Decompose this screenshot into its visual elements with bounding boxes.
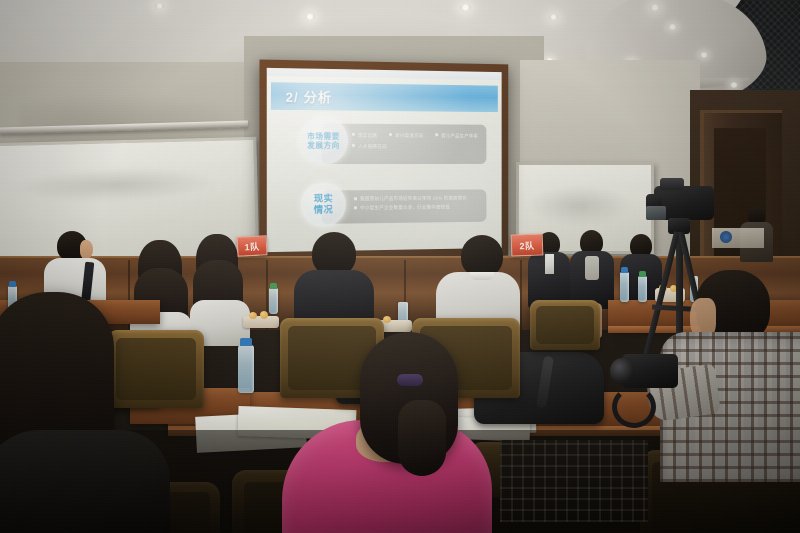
- downlight-icon: [730, 82, 738, 88]
- bullet-dot-icon: [354, 206, 357, 209]
- slide-badge-label: 市场需要 发展方向: [307, 132, 340, 150]
- slide-bullet: 新兴渠道方向: [389, 133, 423, 139]
- slide-bullet: 现实出路: [352, 133, 377, 139]
- water-bottle: [620, 272, 629, 302]
- downlight-icon: [460, 4, 471, 11]
- placard-label: 1队: [244, 239, 260, 253]
- chair: [530, 300, 600, 350]
- doorway-emblem-icon: [720, 231, 732, 243]
- water-bottle: [269, 288, 278, 314]
- chair-grid-backrest: [500, 440, 648, 522]
- downlight-icon: [549, 14, 558, 20]
- camcorder-screen-icon: [646, 206, 666, 220]
- fruit: [383, 316, 391, 323]
- chair: [108, 330, 204, 408]
- middle-man-collar: [470, 272, 494, 280]
- bullet-text: 新兴渠道方向: [395, 133, 423, 139]
- whiteboard-smudge: [530, 186, 630, 226]
- slide-title: 2/ 分析: [286, 87, 333, 107]
- slide-bullet: 人才培养方向: [352, 144, 387, 150]
- bullet-dot-icon: [352, 144, 355, 147]
- bullet-text: 人才培养方向: [358, 144, 387, 150]
- downlight-icon: [668, 24, 677, 30]
- slide-bullet: 婴儿产品生产体系: [435, 133, 478, 139]
- bottle-cap-icon: [9, 281, 16, 287]
- water-bottle: [238, 345, 254, 393]
- hair-tie-icon: [397, 374, 423, 386]
- status-badge: 2队: [511, 233, 544, 256]
- water-bottle: [638, 276, 647, 302]
- woman-left-front-body: [0, 430, 170, 533]
- wainscot-seam: [520, 260, 522, 330]
- slide-bullet: 我国婴幼儿产品市场近年来以年均 15% 的速度增长: [354, 195, 479, 202]
- bullet-dot-icon: [354, 197, 357, 200]
- camcorder-viewfinder-icon: [660, 178, 684, 190]
- downlight-icon: [305, 13, 315, 20]
- slide-section-two-panel: 我国婴幼儿产品市场近年来以年均 15% 的速度增长 中小型生产企业数量众多，行业…: [322, 189, 487, 223]
- bullet-dot-icon: [435, 133, 438, 136]
- bottle-cap-icon: [621, 267, 628, 273]
- bottle-cap-icon: [240, 338, 252, 346]
- dslr-strap: [612, 386, 656, 428]
- right-whiteboard-content: [519, 165, 651, 175]
- projection-screen: 2/ 分析 现实出路 新兴渠道方向 婴儿产品生产体系 人才培养方向: [267, 68, 502, 252]
- downlight-icon: [650, 4, 660, 11]
- bullet-dot-icon: [389, 133, 392, 136]
- slide-section-one-badge: 市场需要 发展方向: [299, 116, 348, 165]
- woman-pink-top-ponytail: [398, 400, 446, 476]
- downlight-icon: [155, 3, 164, 9]
- photo-scene: 2/ 分析 现实出路 新兴渠道方向 婴儿产品生产体系 人才培养方向: [0, 0, 800, 533]
- bottle-cap-icon: [270, 283, 277, 289]
- bullet-dot-icon: [352, 133, 355, 136]
- fruit: [249, 312, 257, 319]
- chair-inner-panel: [536, 306, 594, 344]
- bullet-text: 中小型生产企业数量众多，行业集中度较低: [360, 204, 450, 211]
- slide-badge-label: 现实 情况: [314, 193, 333, 215]
- downlight-icon: [700, 52, 708, 58]
- judge-center-blouse: [585, 256, 599, 280]
- status-badge: 1队: [236, 235, 267, 257]
- whiteboard-smudge: [15, 165, 216, 206]
- left-whiteboard-content: [0, 140, 254, 158]
- chair-inner-panel: [116, 338, 196, 400]
- fruit: [260, 311, 268, 319]
- placard-label: 2队: [519, 238, 534, 252]
- bullet-text: 现实出路: [358, 133, 377, 139]
- bullet-text: 我国婴幼儿产品市场近年来以年均 15% 的速度增长: [360, 195, 467, 202]
- bottle-cap-icon: [639, 271, 646, 277]
- man-left-face: [80, 240, 93, 259]
- middle-man-white-head: [461, 235, 503, 277]
- slide-bullet: 中小型生产企业数量众多，行业集中度较低: [354, 204, 479, 211]
- bullet-text: 婴儿产品生产体系: [441, 133, 478, 139]
- judge-left-shirt: [545, 254, 554, 274]
- dslr-lens-icon: [610, 358, 634, 384]
